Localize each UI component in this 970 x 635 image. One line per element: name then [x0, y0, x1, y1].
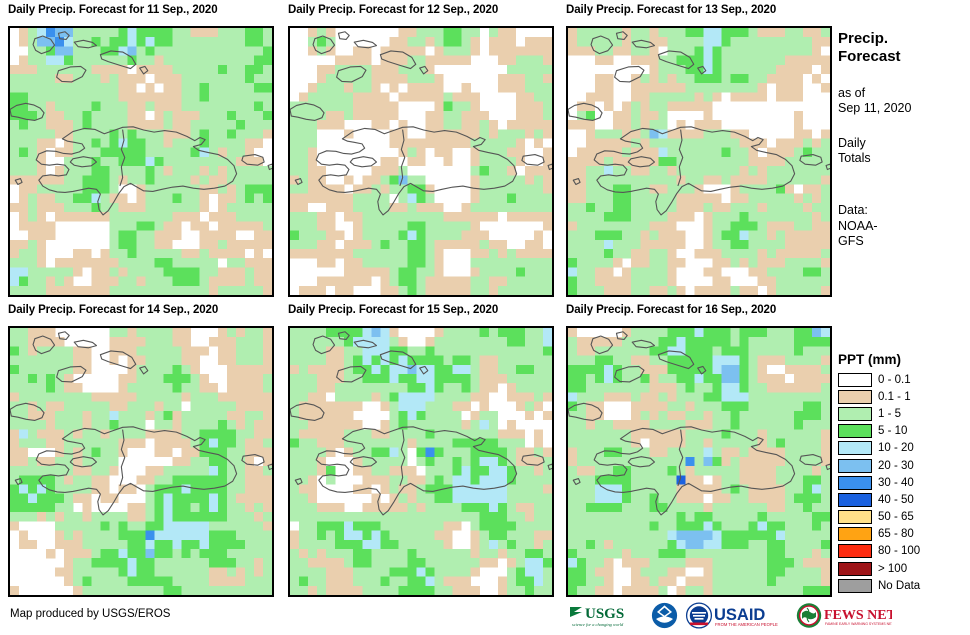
legend-label: 0.1 - 1 — [878, 391, 911, 403]
map-panel-4[interactable]: Daily Precip. Forecast for 14 Sep., 2020 — [8, 304, 274, 597]
legend-item: 1 - 5 — [838, 405, 968, 422]
map-frame-2[interactable] — [288, 26, 554, 297]
legend-item: 30 - 40 — [838, 474, 968, 491]
noaa-logo[interactable] — [651, 602, 678, 629]
legend-label: 1 - 5 — [878, 408, 901, 420]
legend-swatch — [838, 373, 872, 387]
legend-swatch — [838, 424, 872, 438]
legend-item: 0.1 - 1 — [838, 388, 968, 405]
info-title: Precip. Forecast — [838, 30, 968, 67]
legend-swatch — [838, 544, 872, 558]
legend-label: > 100 — [878, 563, 907, 575]
panel-title-4: Daily Precip. Forecast for 14 Sep., 2020 — [8, 304, 218, 316]
legend-item: 40 - 50 — [838, 491, 968, 508]
legend: PPT (mm) 0 - 0.10.1 - 11 - 55 - 1010 - 2… — [838, 352, 968, 594]
precip-raster-4 — [10, 328, 272, 595]
svg-text:USGS: USGS — [585, 606, 624, 622]
legend-label: 10 - 20 — [878, 442, 914, 454]
svg-text:science for a changing world: science for a changing world — [572, 622, 624, 627]
info-title-line2: Forecast — [838, 48, 968, 66]
info-totals-line1: Daily — [838, 136, 968, 152]
precip-raster-6 — [568, 328, 830, 595]
info-data-line2: NOAA- — [838, 219, 968, 235]
usaid-logo[interactable]: USAID FROM THE AMERICAN PEOPLE — [685, 602, 789, 629]
info-totals: Daily Totals — [838, 136, 968, 167]
fewsnet-logo[interactable]: FEWS NET FAMINE EARLY WARNING SYSTEMS NE… — [796, 602, 892, 629]
legend-item: 50 - 65 — [838, 509, 968, 526]
panel-title-2: Daily Precip. Forecast for 12 Sep., 2020 — [288, 4, 498, 16]
info-asof: as of Sep 11, 2020 — [838, 86, 968, 117]
map-frame-1[interactable] — [8, 26, 274, 297]
legend-item: 10 - 20 — [838, 440, 968, 457]
precip-raster-5 — [290, 328, 552, 595]
usgs-logo[interactable]: USGS science for a changing world — [568, 602, 644, 629]
legend-label: 50 - 65 — [878, 511, 914, 523]
legend-swatch — [838, 459, 872, 473]
map-frame-6[interactable] — [566, 326, 832, 597]
info-data-line3: GFS — [838, 234, 968, 250]
legend-swatch — [838, 579, 872, 593]
map-frame-3[interactable] — [566, 26, 832, 297]
legend-label: 20 - 30 — [878, 460, 914, 472]
precip-raster-1 — [10, 28, 272, 295]
svg-text:FAMINE EARLY WARNING SYSTEMS N: FAMINE EARLY WARNING SYSTEMS NETWORK — [825, 622, 892, 626]
panel-title-6: Daily Precip. Forecast for 16 Sep., 2020 — [566, 304, 776, 316]
legend-swatch — [838, 390, 872, 404]
info-column: Precip. Forecast as of Sep 11, 2020 Dail… — [838, 30, 968, 250]
legend-swatch — [838, 527, 872, 541]
legend-item: 80 - 100 — [838, 543, 968, 560]
legend-swatch — [838, 493, 872, 507]
map-panel-6[interactable]: Daily Precip. Forecast for 16 Sep., 2020 — [566, 304, 832, 597]
panel-title-3: Daily Precip. Forecast for 13 Sep., 2020 — [566, 4, 776, 16]
legend-item: 0 - 0.1 — [838, 371, 968, 388]
info-data-source: Data: NOAA- GFS — [838, 203, 968, 250]
panel-title-1: Daily Precip. Forecast for 11 Sep., 2020 — [8, 4, 218, 16]
legend-swatch — [838, 407, 872, 421]
map-panel-2[interactable]: Daily Precip. Forecast for 12 Sep., 2020 — [288, 4, 554, 297]
map-panel-1[interactable]: Daily Precip. Forecast for 11 Sep., 2020 — [8, 4, 274, 297]
legend-item: > 100 — [838, 560, 968, 577]
map-panel-5[interactable]: Daily Precip. Forecast for 15 Sep., 2020 — [288, 304, 554, 597]
legend-label: No Data — [878, 580, 920, 592]
info-data-line1: Data: — [838, 203, 968, 219]
legend-item: 20 - 30 — [838, 457, 968, 474]
legend-swatch — [838, 476, 872, 490]
legend-item: 65 - 80 — [838, 526, 968, 543]
info-title-line1: Precip. — [838, 30, 968, 48]
precip-raster-2 — [290, 28, 552, 295]
legend-label: 0 - 0.1 — [878, 374, 911, 386]
map-credit: Map produced by USGS/EROS — [10, 608, 170, 620]
panel-title-5: Daily Precip. Forecast for 15 Sep., 2020 — [288, 304, 498, 316]
svg-text:FROM THE AMERICAN PEOPLE: FROM THE AMERICAN PEOPLE — [715, 622, 778, 627]
legend-label: 5 - 10 — [878, 425, 907, 437]
precip-raster-3 — [568, 28, 830, 295]
legend-swatch — [838, 510, 872, 524]
legend-rows: 0 - 0.10.1 - 11 - 55 - 1010 - 2020 - 303… — [838, 371, 968, 594]
info-asof-line2: Sep 11, 2020 — [838, 101, 968, 117]
legend-label: 65 - 80 — [878, 528, 914, 540]
legend-swatch — [838, 562, 872, 576]
agency-logos: USGS science for a changing world USAID … — [568, 600, 892, 630]
legend-item: 5 - 10 — [838, 423, 968, 440]
legend-swatch — [838, 441, 872, 455]
legend-label: 40 - 50 — [878, 494, 914, 506]
info-totals-line2: Totals — [838, 151, 968, 167]
map-frame-4[interactable] — [8, 326, 274, 597]
map-frame-5[interactable] — [288, 326, 554, 597]
legend-label: 80 - 100 — [878, 545, 920, 557]
info-asof-line1: as of — [838, 86, 968, 102]
legend-title: PPT (mm) — [838, 352, 968, 367]
map-panel-3[interactable]: Daily Precip. Forecast for 13 Sep., 2020 — [566, 4, 832, 297]
legend-item: No Data — [838, 577, 968, 594]
legend-label: 30 - 40 — [878, 477, 914, 489]
svg-text:FEWS NET: FEWS NET — [824, 608, 892, 623]
